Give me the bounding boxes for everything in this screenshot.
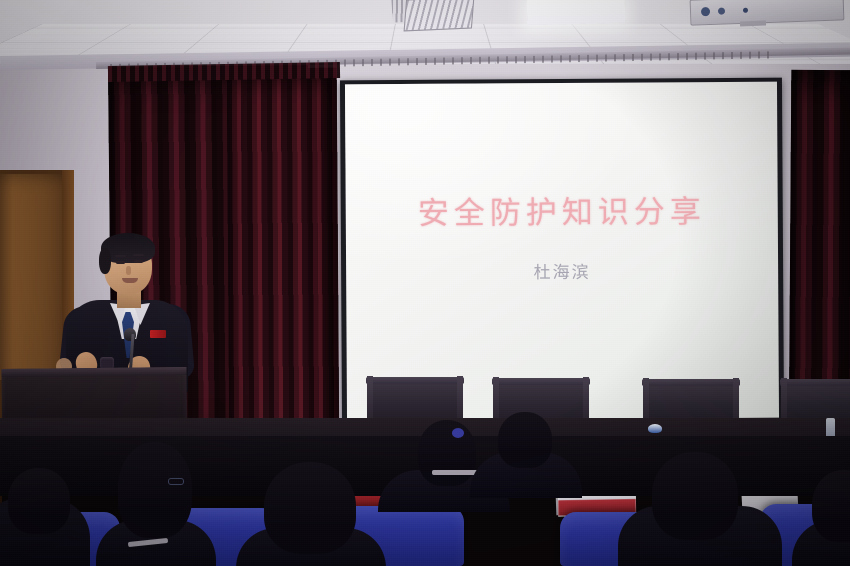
- audience-person-head: [652, 452, 738, 540]
- hair-clip-icon: [452, 428, 464, 438]
- screen-glare: [345, 82, 649, 273]
- projector-icon: [690, 0, 845, 26]
- projection-screen: 安全防护知识分享 杜海滨: [345, 82, 779, 421]
- audience-person-head: [418, 420, 476, 486]
- projection-screen-frame: 安全防护知识分享 杜海滨: [340, 78, 784, 426]
- speaker-nose: [126, 266, 131, 275]
- stage-chair-leg: [583, 377, 589, 421]
- projector-lens-icon: [701, 7, 710, 16]
- stage-chair-rail: [492, 378, 590, 385]
- audience-person-head: [8, 468, 70, 534]
- projector-mount: [740, 21, 766, 27]
- slide-subtitle: 杜海滨: [346, 257, 778, 285]
- podium-top-surface: [1, 367, 186, 377]
- air-vent-icon: [404, 0, 475, 31]
- audience-person-head: [118, 442, 192, 538]
- stage-chair-leg: [733, 378, 739, 422]
- audience-person-head: [498, 412, 552, 468]
- cup-on-table: [648, 424, 662, 433]
- stage-chair-leg: [367, 376, 373, 420]
- stage-chair[interactable]: [648, 384, 734, 421]
- speaker-eyebrow-right: [133, 254, 144, 256]
- speaker-badge: [150, 330, 166, 338]
- glasses-icon: [168, 478, 184, 485]
- speaker-eyebrow-left: [115, 255, 126, 257]
- audience-person-head: [264, 462, 356, 554]
- speaker-mouth: [122, 278, 138, 283]
- speaker-eye-right: [134, 260, 143, 263]
- stage-chair[interactable]: [786, 384, 850, 421]
- presentation-photo-scene: 安全防护知识分享 杜海滨: [0, 0, 850, 566]
- stage-chair-leg: [643, 378, 649, 422]
- light-panel-icon: [527, 0, 626, 25]
- speaker-eye-left: [116, 261, 125, 264]
- stage-chair-leg: [457, 376, 463, 420]
- stage-chair-rail: [366, 377, 464, 384]
- speaker-hair-side: [99, 248, 111, 274]
- stage-chair-leg: [493, 377, 499, 421]
- stage-chair-rail: [642, 379, 740, 386]
- curtain-left-inner: [227, 68, 340, 451]
- stage-chair-rail: [780, 379, 850, 386]
- stage-chair-leg: [781, 378, 787, 422]
- stage-chair[interactable]: [372, 382, 458, 420]
- audience-collar: [432, 470, 478, 475]
- slide-title: 安全防护知识分享: [346, 186, 778, 234]
